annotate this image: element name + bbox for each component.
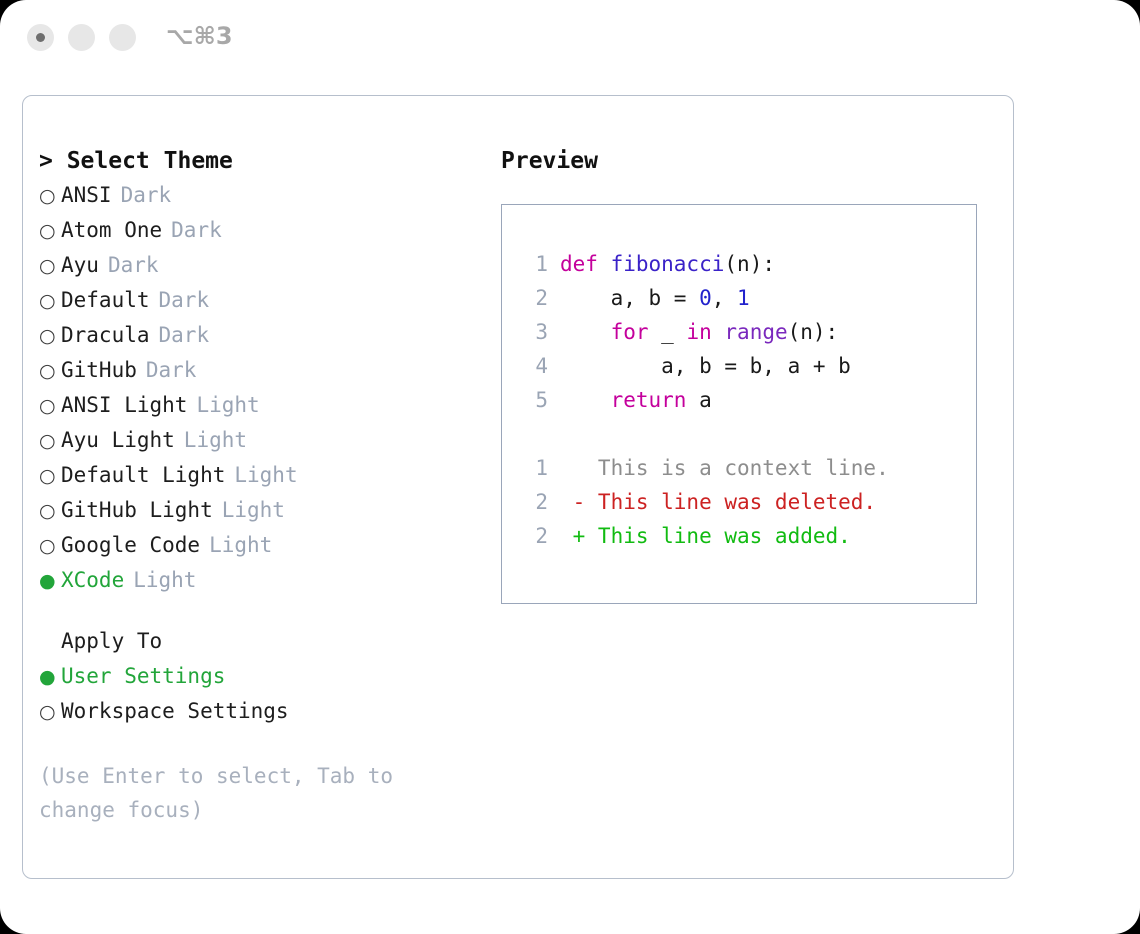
preview-column: Preview 1def fibonacci(n):2 a, b = 0, 13… [501,144,1001,604]
list-item-variant: Light [184,423,247,457]
code-line: 1 This is a context line. [502,451,976,485]
list-item-label: Default [61,283,150,317]
code-token: 0 [699,286,712,310]
code-token: , [712,286,737,310]
code-line-content: + This line was added. [560,519,851,553]
code-token: a, b = [560,286,699,310]
list-item-label: Dracula [61,318,150,352]
radio-unselected-icon: ○ [39,424,61,458]
preview-heading: Preview [501,144,1001,178]
code-token: n [737,252,750,276]
list-item-label: GitHub Light [61,493,213,527]
line-number: 4 [522,349,548,383]
code-token: ): [750,252,775,276]
theme-list: ○ANSIDark○Atom OneDark○AyuDark○DefaultDa… [39,178,479,598]
code-token: fibonacci [611,252,725,276]
list-item[interactable]: ○GitHub LightLight [39,493,479,528]
list-item-variant: Dark [146,353,197,387]
radio-unselected-icon: ○ [39,249,61,283]
list-item[interactable]: ○Atom OneDark [39,213,479,248]
code-token: return [611,388,687,412]
main-panel: > Select Theme ○ANSIDark○Atom OneDark○Ay… [22,95,1014,879]
code-token: in [686,320,711,344]
app-window: ⌥⌘3 > Select Theme ○ANSIDark○Atom OneDar… [0,0,1140,934]
code-line: 2 a, b = 0, 1 [502,281,976,315]
line-number: 3 [522,315,548,349]
list-item-label: Atom One [61,213,162,247]
select-theme-heading: > Select Theme [39,144,479,178]
list-item-variant: Dark [108,248,159,282]
list-item-variant: Light [133,563,196,597]
code-line: 2 - This line was deleted. [502,485,976,519]
apply-to-label: Apply To [61,624,162,658]
list-item-variant: Light [234,458,297,492]
window-controls [27,24,136,51]
line-number: 2 [522,519,548,553]
code-line-content: return a [560,383,712,417]
list-item[interactable]: ○Google CodeLight [39,528,479,563]
preview-code-box: 1def fibonacci(n):2 a, b = 0, 13 for _ i… [501,204,977,604]
list-item-label: User Settings [61,659,225,693]
hint-text: (Use Enter to select, Tab to change focu… [39,759,439,827]
line-number: 2 [522,485,548,519]
code-line-content: a, b = 0, 1 [560,281,750,315]
code-line-content: def fibonacci(n): [560,247,775,281]
radio-unselected-icon: ○ [39,319,61,353]
code-line-content: a, b = b, a + b [560,349,851,383]
code-token: range [724,320,787,344]
list-item-label: Ayu Light [61,423,175,457]
code-line-content: This is a context line. [560,451,889,485]
radio-selected-icon: ● [39,660,61,694]
list-item[interactable]: ○DefaultDark [39,283,479,318]
code-sample: 1def fibonacci(n):2 a, b = 0, 13 for _ i… [502,247,976,417]
code-token: for [611,320,649,344]
line-number: 5 [522,383,548,417]
code-token [712,320,725,344]
record-dot-button[interactable] [27,24,54,51]
apply-to-heading: ○ Apply To [39,624,479,659]
apply-to-list: ●User Settings○Workspace Settings [39,659,479,729]
radio-unselected-icon: ○ [39,214,61,248]
code-token: a [686,388,711,412]
keyboard-shortcut-label: ⌥⌘3 [166,22,233,50]
list-item-label: Google Code [61,528,200,562]
list-item-label: Default Light [61,458,225,492]
code-line: 2 + This line was added. [502,519,976,553]
code-spacer [502,417,976,451]
list-item-variant: Dark [159,318,210,352]
code-token: This is a context line. [560,456,889,480]
code-line-content: - This line was deleted. [560,485,876,519]
list-item-label: ANSI [61,178,112,212]
code-line: 1def fibonacci(n): [502,247,976,281]
radio-unselected-icon: ○ [39,354,61,388]
list-item[interactable]: ○AyuDark [39,248,479,283]
code-token: 1 [737,286,750,310]
code-line: 5 return a [502,383,976,417]
radio-unselected-icon: ○ [39,179,61,213]
list-item[interactable]: ●User Settings [39,659,479,694]
list-item-label: Ayu [61,248,99,282]
code-token [560,320,611,344]
radio-unselected-icon: ○ [39,459,61,493]
list-item-variant: Dark [159,283,210,317]
record-dot-icon [36,33,45,42]
code-token: + This line was added. [560,524,851,548]
line-number: 2 [522,281,548,315]
radio-selected-icon: ● [39,564,61,598]
code-token: ( [724,252,737,276]
list-item[interactable]: ○ANSI LightLight [39,388,479,423]
apply-to-spacer: ○ [39,625,61,659]
code-line-content: for _ in range(n): [560,315,838,349]
window-button-three[interactable] [109,24,136,51]
radio-unselected-icon: ○ [39,494,61,528]
radio-unselected-icon: ○ [39,529,61,563]
code-token: def [560,252,611,276]
list-item-label: Workspace Settings [61,694,289,728]
code-token: _ [649,320,687,344]
radio-unselected-icon: ○ [39,284,61,318]
list-item[interactable]: ○Ayu LightLight [39,423,479,458]
list-item-variant: Light [222,493,285,527]
list-item-label: GitHub [61,353,137,387]
list-item[interactable]: ○GitHubDark [39,353,479,388]
list-item[interactable]: ○Workspace Settings [39,694,479,729]
line-number: 1 [522,247,548,281]
radio-unselected-icon: ○ [39,389,61,423]
diff-sample: 1 This is a context line.2 - This line w… [502,451,976,553]
list-item-variant: Light [209,528,272,562]
list-item-variant: Dark [121,178,172,212]
list-item[interactable]: ○ANSIDark [39,178,479,213]
code-token [560,388,611,412]
radio-unselected-icon: ○ [39,695,61,729]
code-token: a, b = b, a + b [560,354,851,378]
code-token: - This line was deleted. [560,490,876,514]
code-line: 3 for _ in range(n): [502,315,976,349]
list-item-label: XCode [61,563,124,597]
theme-selector-column: > Select Theme ○ANSIDark○Atom OneDark○Ay… [39,144,479,827]
list-item[interactable]: ○DraculaDark [39,318,479,353]
line-number: 1 [522,451,548,485]
list-item-label: ANSI Light [61,388,187,422]
code-line: 4 a, b = b, a + b [502,349,976,383]
list-item-variant: Dark [171,213,222,247]
code-token: (n): [788,320,839,344]
list-item[interactable]: ●XCodeLight [39,563,479,598]
list-item[interactable]: ○Default LightLight [39,458,479,493]
title-bar: ⌥⌘3 [0,0,1140,78]
list-item-variant: Light [196,388,259,422]
window-button-two[interactable] [68,24,95,51]
